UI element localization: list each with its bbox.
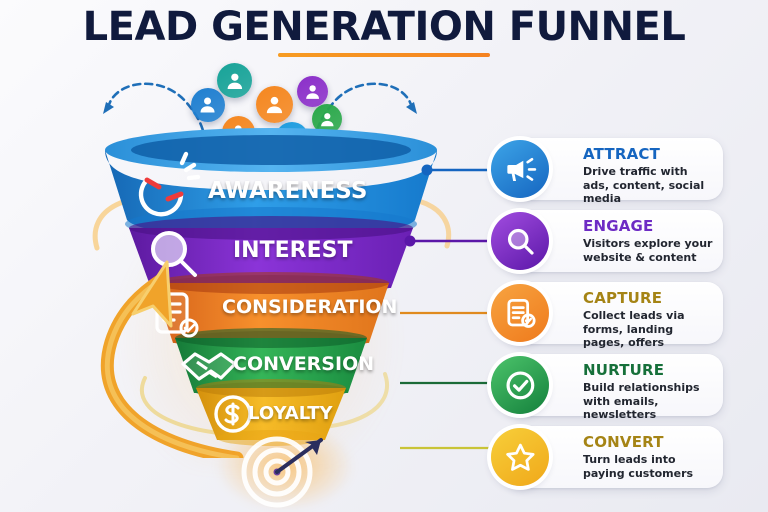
title-underline: [278, 53, 490, 57]
connector-dot-engage: [405, 236, 416, 247]
funnel-label-conversion: CONVERSION: [233, 353, 374, 375]
funnel-label-interest: INTEREST: [233, 238, 352, 263]
card-body: Build relationships with emails, newslet…: [583, 381, 717, 422]
avatar-purple: [297, 76, 328, 107]
connector-dot-attract: [422, 165, 433, 176]
card-body: Collect leads via forms, landing pages, …: [583, 309, 717, 350]
avatar-orange: [256, 86, 293, 123]
funnel-label-loyalty: LOYALTY: [248, 403, 333, 424]
card-heading: NURTURE: [583, 362, 717, 379]
card-heading: ENGAGE: [583, 218, 717, 235]
magnifier-icon: [491, 212, 549, 270]
person-icon: [197, 94, 218, 115]
target-icon: [225, 430, 345, 512]
funnel-label-awareness: AWARENESS: [208, 178, 367, 204]
document-check-icon: [491, 284, 549, 342]
card-body: Drive traffic with ads, content, social …: [583, 165, 717, 206]
card-body: Visitors explore your website & content: [583, 237, 717, 264]
check-circle-icon: [491, 356, 549, 414]
card-heading: ATTRACT: [583, 146, 717, 163]
card-attract[interactable]: ATTRACT Drive traffic with ads, content,…: [507, 138, 723, 200]
card-heading: CONVERT: [583, 434, 717, 451]
card-capture[interactable]: CAPTURE Collect leads via forms, landing…: [507, 282, 723, 344]
avatar-blue: [191, 88, 225, 122]
person-icon: [224, 70, 246, 92]
person-icon: [303, 82, 322, 101]
card-convert[interactable]: CONVERT Turn leads into paying customers: [507, 426, 723, 488]
megaphone-icon: [491, 140, 549, 198]
card-engage[interactable]: ENGAGE Visitors explore your website & c…: [507, 210, 723, 272]
card-body: Turn leads into paying customers: [583, 453, 717, 480]
page-title: LEAD GENERATION FUNNEL: [0, 4, 768, 50]
person-icon: [318, 110, 337, 129]
card-heading: CAPTURE: [583, 290, 717, 307]
person-icon: [263, 93, 286, 116]
avatar-teal: [217, 63, 252, 98]
card-nurture[interactable]: NURTURE Build relationships with emails,…: [507, 354, 723, 416]
funnel-label-consideration: CONSIDERATION: [222, 296, 397, 318]
title-block: LEAD GENERATION FUNNEL: [0, 4, 768, 57]
star-icon: [491, 428, 549, 486]
